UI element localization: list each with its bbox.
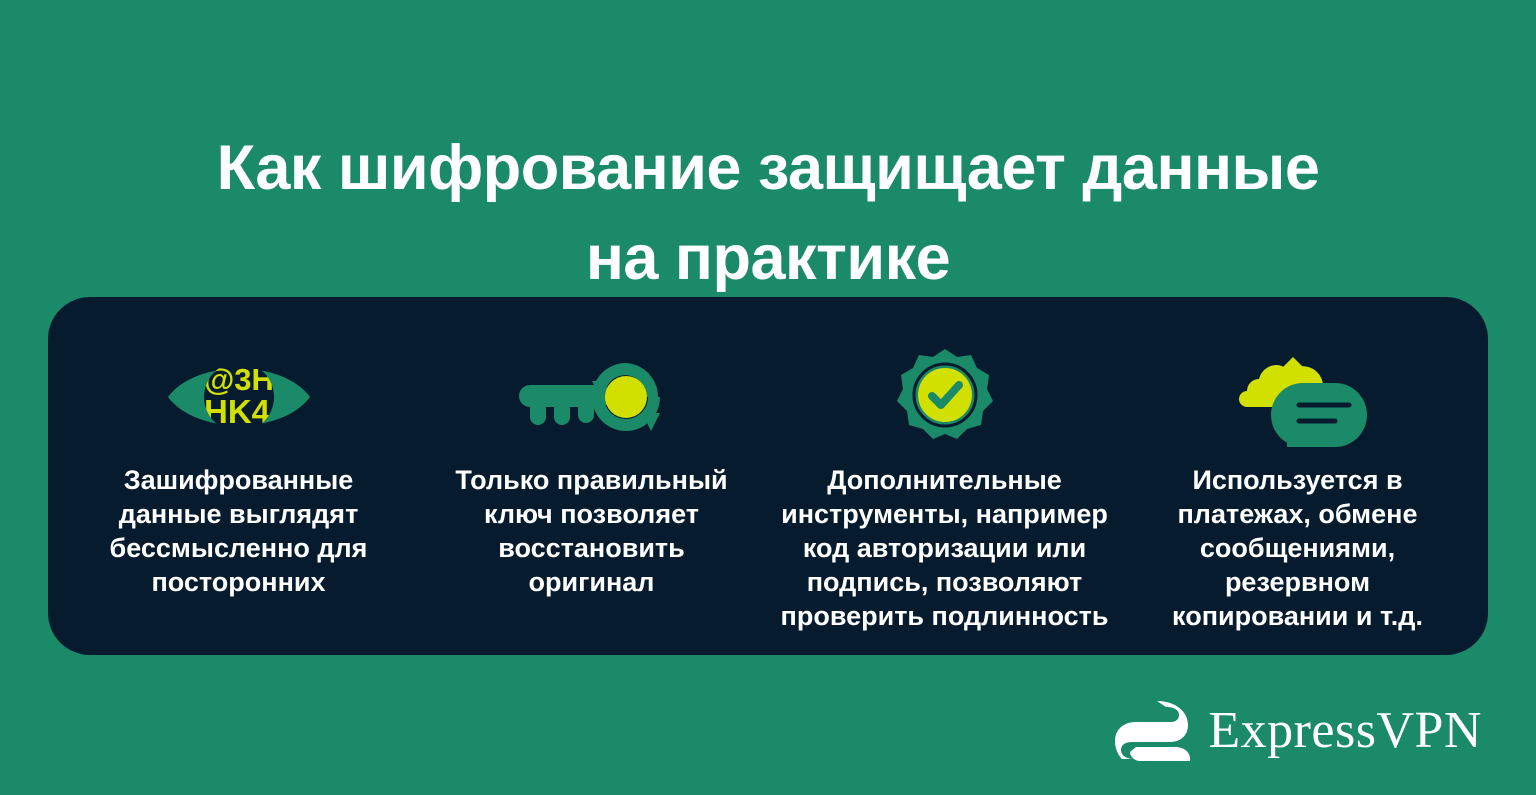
feature-column-encrypted-data: @3H HK4 Зашифрованные данные выглядят бе…: [62, 297, 415, 599]
feature-text-encrypted-data: Зашифрованные данные выглядят бессмыслен…: [85, 463, 393, 599]
encrypted-eye-top-chars: @3H: [204, 362, 274, 397]
feature-column-authenticity: Дополнительные инструменты, например код…: [768, 297, 1121, 633]
cloud-upload-chat-icon-wrap: [1227, 345, 1369, 449]
expressvpn-brand: ExpressVPN: [1114, 699, 1482, 763]
features-card: @3H HK4 Зашифрованные данные выглядят бе…: [48, 297, 1488, 655]
chat-bubble-shape: [1271, 383, 1367, 447]
cloud-upload-chat-icon: [1227, 347, 1369, 447]
expressvpn-e-logo: [1114, 699, 1192, 763]
feature-column-correct-key: Только правильный ключ позволяет восстан…: [415, 297, 768, 599]
key-refresh-icon: [514, 351, 670, 443]
feature-text-correct-key: Только правильный ключ позволяет восстан…: [430, 463, 754, 599]
verified-badge-icon: [897, 349, 993, 445]
infographic-poster: Как шифрование защищает данные на практи…: [0, 0, 1536, 795]
feature-column-usage: Используется в платежах, обмене сообщени…: [1121, 297, 1474, 633]
verified-badge-icon-wrap: [897, 345, 993, 449]
feature-text-usage: Используется в платежах, обмене сообщени…: [1139, 463, 1457, 633]
feature-text-authenticity: Дополнительные инструменты, например код…: [773, 463, 1117, 633]
brand-name: ExpressVPN: [1208, 705, 1482, 757]
encrypted-eye-icon: @3H HK4: [166, 357, 312, 437]
encrypted-eye-bottom-chars: HK4: [203, 393, 270, 430]
key-refresh-icon-wrap: [514, 345, 670, 449]
page-title: Как шифрование защищает данные на практи…: [0, 124, 1536, 303]
encrypted-eye-icon-wrap: @3H HK4: [166, 345, 312, 449]
